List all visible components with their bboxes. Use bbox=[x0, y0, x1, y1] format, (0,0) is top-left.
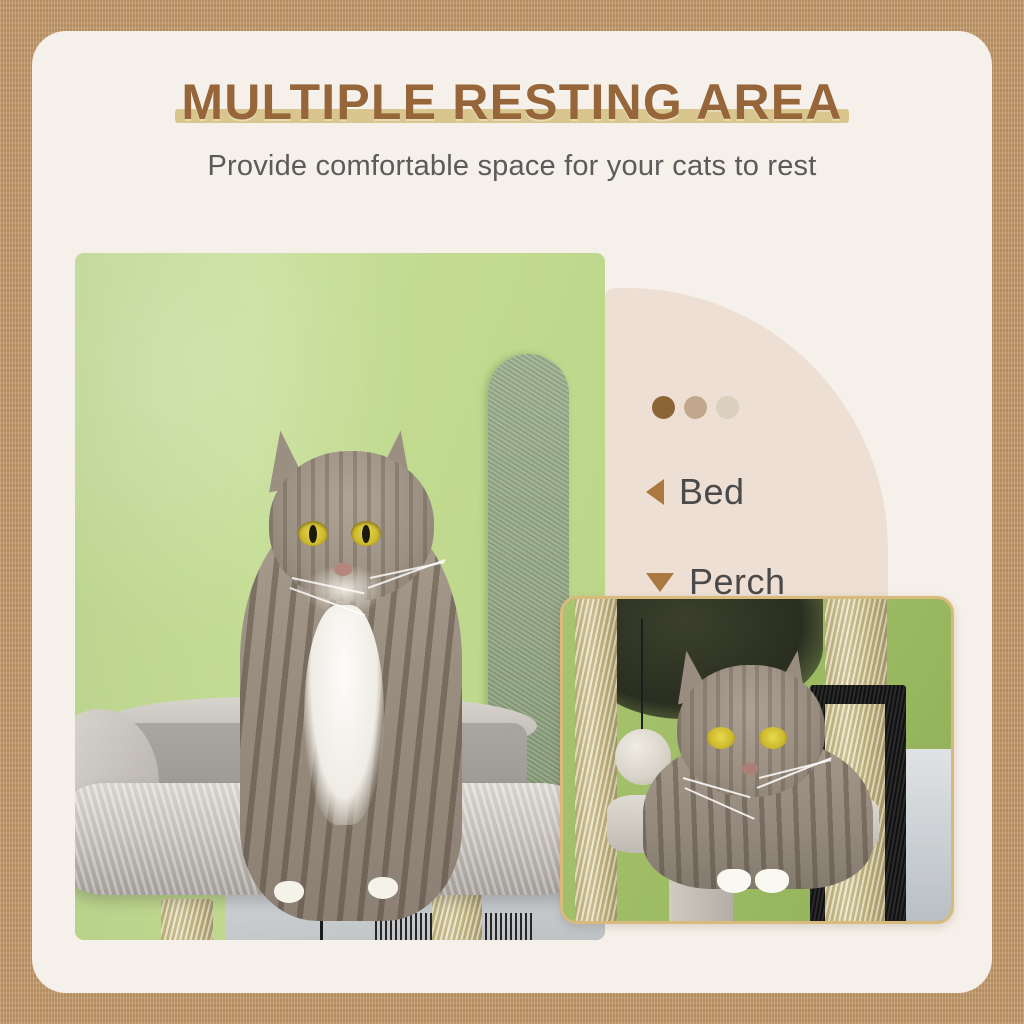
cat-pupil-right bbox=[362, 525, 370, 543]
inset-cat-nose bbox=[742, 763, 758, 775]
info-panel: Bed Perch bbox=[605, 288, 888, 648]
cat-pupil-left bbox=[309, 525, 317, 543]
content-card: MULTIPLE RESTING AREA Provide comfortabl… bbox=[32, 31, 992, 993]
cat-white-chest bbox=[304, 605, 384, 825]
triangle-down-icon bbox=[646, 573, 674, 592]
cat-eye-right bbox=[351, 521, 381, 546]
cat-eye-left bbox=[298, 521, 328, 546]
inset-cat-head bbox=[677, 665, 825, 797]
cat-paw-right bbox=[368, 877, 398, 899]
inset-cat-lying bbox=[643, 651, 873, 881]
cat-nose bbox=[334, 563, 352, 576]
outer-frame: MULTIPLE RESTING AREA Provide comfortabl… bbox=[0, 0, 1024, 1024]
dot-medium-icon bbox=[684, 396, 707, 419]
inset-storage-box bbox=[899, 749, 954, 924]
inset-cat-paw-left bbox=[717, 869, 751, 893]
cat-sitting bbox=[218, 381, 486, 921]
cat-paw-left bbox=[274, 881, 304, 903]
inset-sisal-post-left bbox=[575, 599, 617, 924]
inset-cat-eye-right bbox=[759, 727, 787, 749]
dot-dark-icon bbox=[652, 396, 675, 419]
inset-cat-eye-left bbox=[707, 727, 735, 749]
page-title-wrapper: MULTIPLE RESTING AREA bbox=[181, 75, 842, 129]
feature-row-bed: Bed bbox=[646, 471, 745, 513]
main-product-photo bbox=[75, 253, 605, 940]
inset-cat-paw-right bbox=[755, 869, 789, 893]
triangle-left-icon bbox=[646, 479, 664, 505]
page-title: MULTIPLE RESTING AREA bbox=[181, 75, 842, 129]
feature-label-bed: Bed bbox=[679, 471, 745, 513]
dot-light-icon bbox=[716, 396, 739, 419]
header: MULTIPLE RESTING AREA Provide comfortabl… bbox=[32, 31, 992, 183]
inset-product-photo bbox=[560, 596, 954, 924]
page-subtitle: Provide comfortable space for your cats … bbox=[32, 150, 992, 183]
dot-indicator-group bbox=[652, 396, 739, 419]
